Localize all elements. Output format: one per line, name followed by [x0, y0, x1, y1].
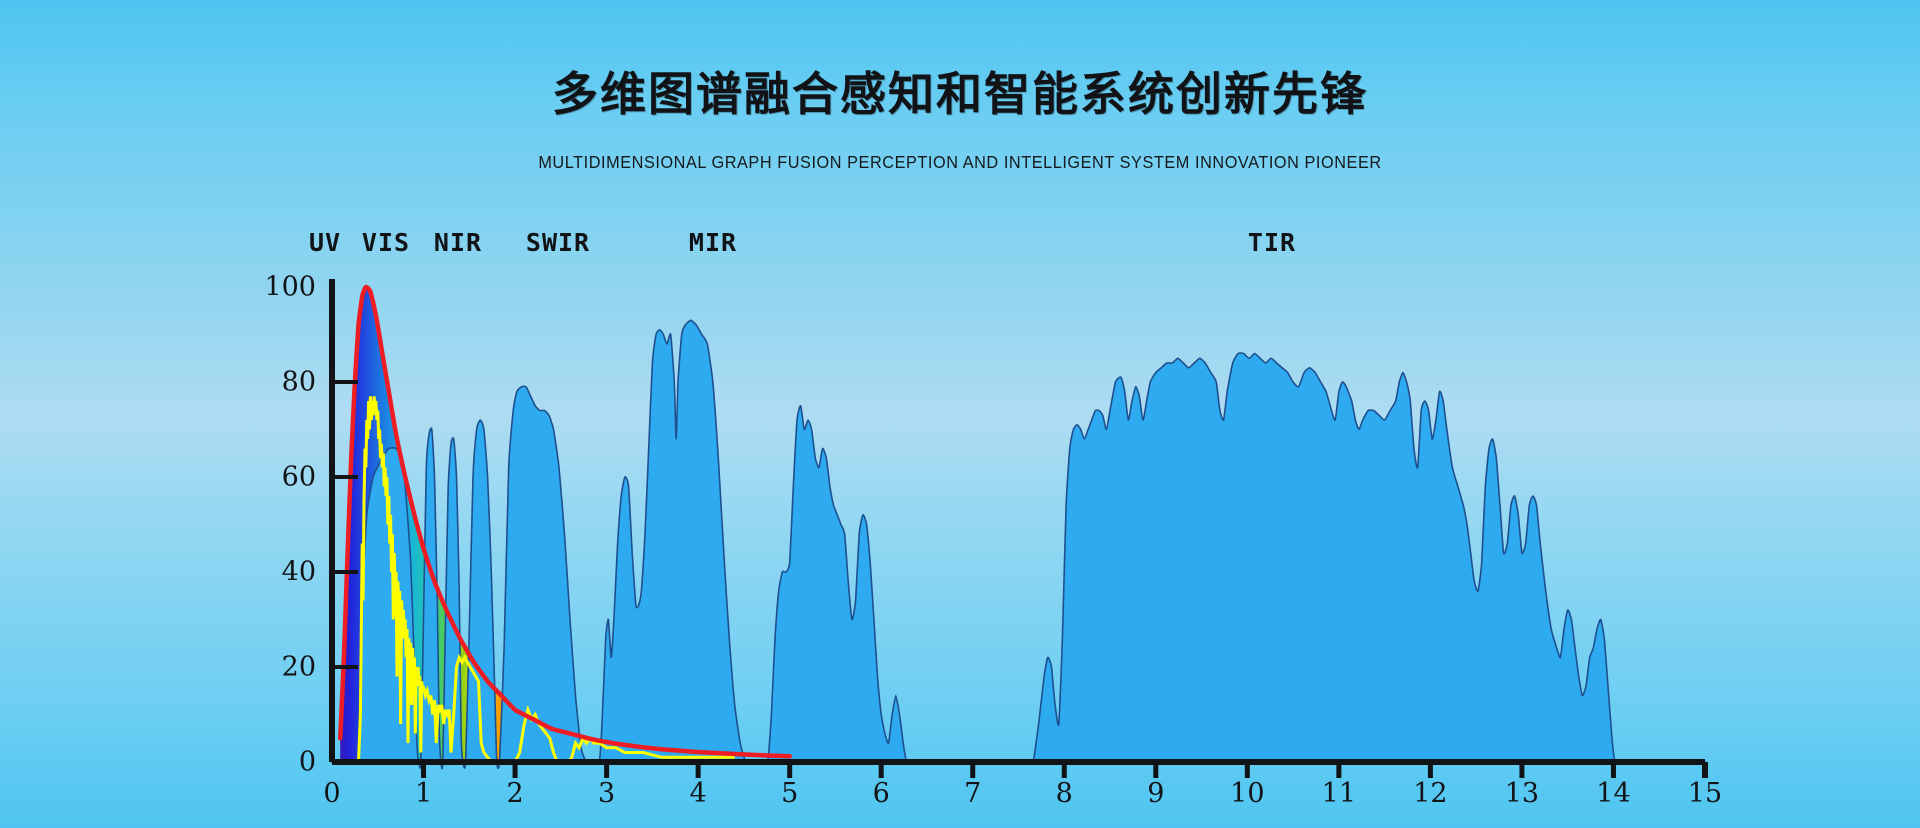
band-label-mir: MIR	[689, 228, 737, 257]
x-tick-label: 12	[1413, 778, 1447, 809]
band-label-vis: VIS	[362, 228, 410, 257]
y-tick-label: 60	[282, 462, 316, 493]
band-label-tir: TIR	[1248, 228, 1296, 257]
band-label-uv: UV	[309, 228, 341, 257]
x-tick-label: 5	[781, 778, 798, 809]
x-tick-label: 15	[1688, 778, 1722, 809]
band-label-swir: SWIR	[526, 228, 590, 257]
x-tick-label: 2	[506, 778, 523, 809]
y-tick-label: 40	[282, 557, 316, 588]
spectrum-infographic-banner: 多维图谱融合感知和智能系统创新先锋 MULTIDIMENSIONAL GRAPH…	[0, 0, 1920, 828]
x-tick-label: 3	[598, 778, 615, 809]
y-tick-label: 80	[282, 367, 316, 398]
x-tick-label: 14	[1596, 778, 1630, 809]
x-tick-label: 6	[873, 778, 890, 809]
atmospheric-transmission-area	[332, 320, 1705, 768]
x-tick-label: 1	[415, 778, 432, 809]
x-tick-label: 9	[1147, 778, 1164, 809]
y-tick-label: 100	[264, 272, 316, 303]
x-tick-label: 13	[1505, 778, 1539, 809]
x-tick-label: 0	[323, 778, 340, 809]
x-tick-label: 7	[964, 778, 981, 809]
y-tick-label: 20	[282, 652, 316, 683]
x-tick-label: 10	[1230, 778, 1264, 809]
y-tick-label: 0	[299, 747, 316, 778]
band-label-nir: NIR	[434, 228, 482, 257]
x-tick-label: 4	[690, 778, 707, 809]
x-tick-label: 8	[1056, 778, 1073, 809]
spectrum-chart	[0, 0, 1920, 828]
x-tick-label: 11	[1322, 778, 1356, 809]
